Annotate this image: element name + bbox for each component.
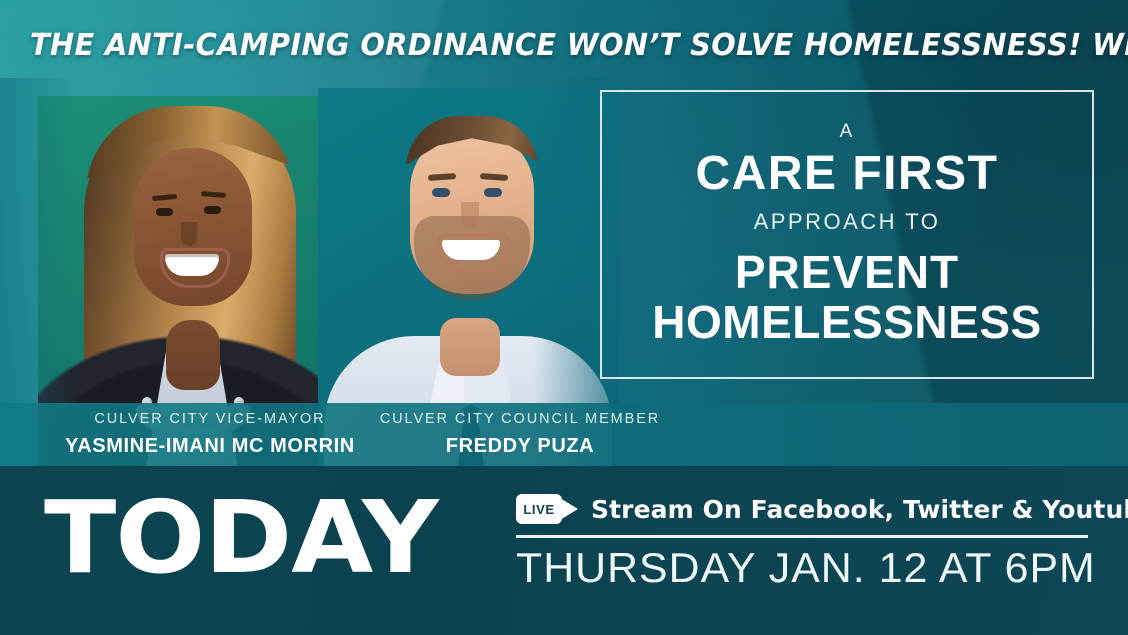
live-video-icon: LIVE bbox=[516, 494, 578, 524]
speaker-block-1: CULVER CITY VICE-MAYOR YASMINE-IMANI MC … bbox=[40, 403, 380, 456]
footer-bar: TODAY LIVE Stream On Facebook, Twitter &… bbox=[0, 466, 1128, 635]
nose bbox=[461, 202, 479, 230]
headline-text: THE ANTI-CAMPING ORDINANCE WON’T SOLVE H… bbox=[30, 28, 1057, 63]
neck bbox=[440, 318, 500, 376]
speaker-role: CULVER CITY VICE-MAYOR bbox=[40, 412, 380, 427]
message-approach-to: APPROACH TO bbox=[754, 209, 941, 235]
divider-rule bbox=[516, 535, 1088, 538]
speaker-name-band: CULVER CITY VICE-MAYOR YASMINE-IMANI MC … bbox=[0, 403, 1128, 466]
message-prevent: PREVENT bbox=[735, 247, 959, 298]
nose bbox=[181, 222, 197, 246]
speaker-block-2: CULVER CITY COUNCIL MEMBER FREDDY PUZA bbox=[350, 403, 690, 456]
message-care-first: CARE FIRST bbox=[696, 149, 999, 199]
event-date-text: THURSDAY JAN. 12 AT 6PM bbox=[516, 544, 1099, 592]
speaker-role: CULVER CITY COUNCIL MEMBER bbox=[350, 412, 690, 427]
stream-platforms-text: Stream On Facebook, Twitter & Youtube bbox=[591, 495, 1128, 524]
message-homelessness: HOMELESSNESS bbox=[652, 297, 1041, 348]
speaker-name: FREDDY PUZA bbox=[350, 436, 690, 456]
video-camera-icon bbox=[560, 498, 578, 520]
eye-right bbox=[484, 188, 502, 197]
promo-poster: THE ANTI-CAMPING ORDINANCE WON’T SOLVE H… bbox=[0, 0, 1128, 635]
message-line-a: A bbox=[840, 121, 855, 143]
eye-left bbox=[432, 188, 450, 197]
neck bbox=[166, 320, 220, 390]
stream-info: LIVE Stream On Facebook, Twitter & Youtu… bbox=[516, 494, 1088, 592]
speaker-name: YASMINE-IMANI MC MORRIN bbox=[40, 436, 380, 456]
eye-left bbox=[156, 208, 173, 216]
message-box: A CARE FIRST APPROACH TO PREVENT HOMELES… bbox=[600, 90, 1094, 379]
eye-right bbox=[204, 206, 221, 214]
lips bbox=[437, 234, 511, 272]
today-label: TODAY bbox=[44, 488, 438, 588]
live-badge-label: LIVE bbox=[523, 502, 554, 517]
